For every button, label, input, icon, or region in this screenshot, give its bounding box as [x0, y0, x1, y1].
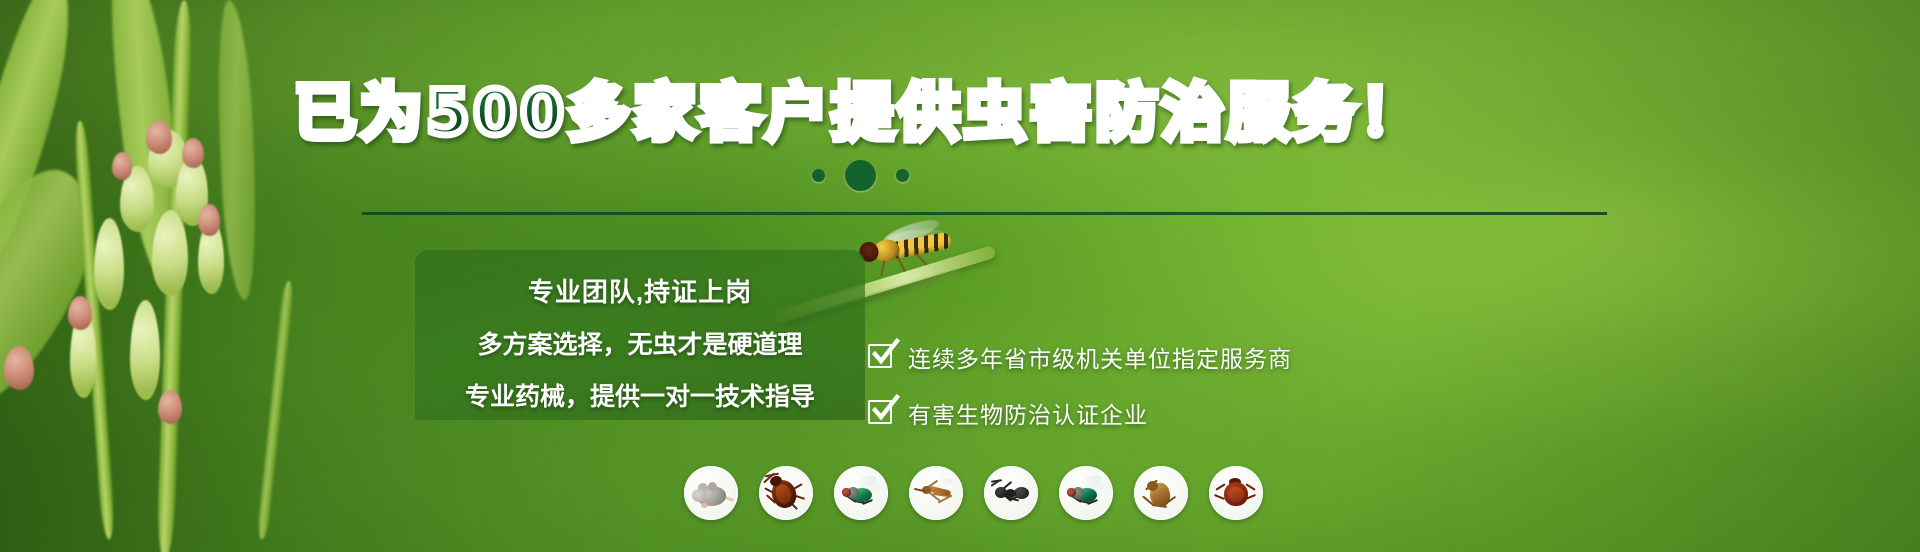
- list-item: 有害生物防治认证企业: [868, 396, 1292, 430]
- pest-circle-flea: [1134, 466, 1188, 520]
- divider: [362, 212, 1607, 215]
- bedbug-icon: [1213, 470, 1259, 516]
- pest-circle-house-fly: [1059, 466, 1113, 520]
- pest-circle-bedbug: [1209, 466, 1263, 520]
- dot-small-right-icon: [896, 169, 909, 182]
- mouse-icon: [688, 470, 734, 516]
- checkbox-checked-icon: [868, 400, 894, 426]
- cockroach-icon: [763, 470, 809, 516]
- pest-circle-cockroach: [759, 466, 813, 520]
- pest-circle-green-fly: [834, 466, 888, 520]
- credential-label: 连续多年省市级机关单位指定服务商: [908, 340, 1292, 374]
- features-card: 专业团队,持证上岗 多方案选择，无虫才是硬道理 专业药械，提供一对一技术指导: [415, 250, 865, 420]
- house-fly-icon: [1063, 470, 1109, 516]
- pest-circle-ant: [984, 466, 1038, 520]
- credential-label: 有害生物防治认证企业: [908, 396, 1148, 430]
- dot-large-center-icon: [845, 160, 876, 191]
- flea-icon: [1138, 470, 1184, 516]
- features-card-line-3: 专业药械，提供一对一技术指导: [415, 377, 865, 413]
- pest-circle-mouse: [684, 466, 738, 520]
- features-card-line-2: 多方案选择，无虫才是硬道理: [415, 325, 865, 361]
- pest-gallery: [684, 466, 1263, 520]
- headline: 已为500多家客户提供虫害防治服务！: [0, 72, 1920, 154]
- green-fly-icon: [838, 470, 884, 516]
- promo-banner: 已为500多家客户提供虫害防治服务！ 专业团队,持证上岗 多方案选择，无虫才是硬…: [0, 0, 1920, 552]
- headline-text: 已为500多家客户提供虫害防治服务！: [294, 72, 1425, 154]
- ant-icon: [988, 470, 1034, 516]
- features-card-line-1: 专业团队,持证上岗: [415, 272, 865, 309]
- decorative-dots: [0, 160, 1820, 191]
- checkbox-checked-icon: [868, 344, 894, 370]
- dot-small-left-icon: [812, 169, 825, 182]
- list-item: 连续多年省市级机关单位指定服务商: [868, 340, 1292, 374]
- credentials-list: 连续多年省市级机关单位指定服务商 有害生物防治认证企业: [868, 340, 1292, 452]
- mosquito-icon: [913, 470, 959, 516]
- pest-circle-mosquito: [909, 466, 963, 520]
